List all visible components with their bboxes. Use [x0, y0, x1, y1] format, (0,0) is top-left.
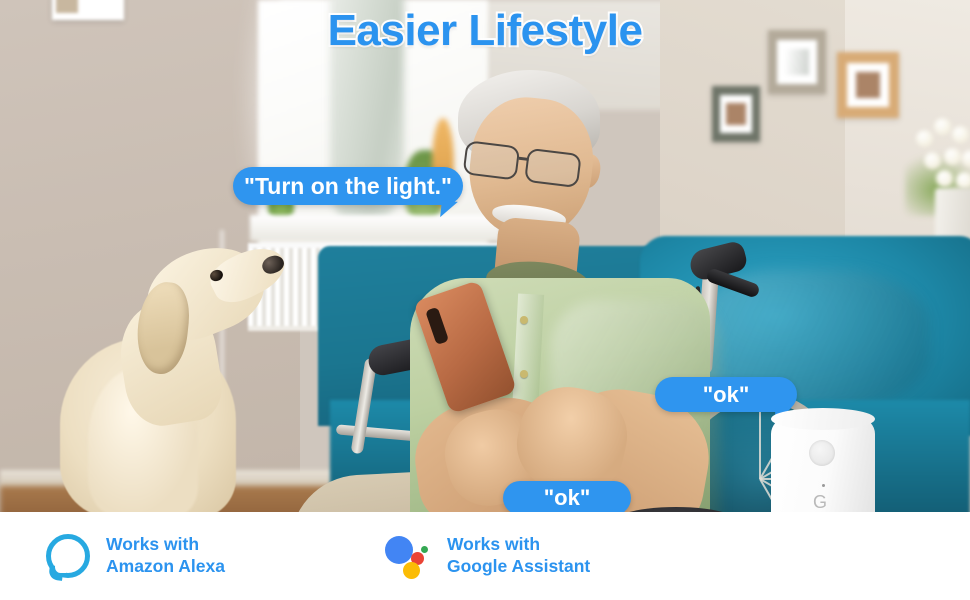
- alexa-icon: [46, 534, 90, 578]
- speech-bubble-command-text: "Turn on the light.": [244, 173, 452, 200]
- speech-bubble-command: "Turn on the light.": [233, 167, 463, 205]
- alexa-label-line2: Amazon Alexa: [106, 556, 225, 578]
- works-with-amazon-alexa: Works with Amazon Alexa: [46, 534, 225, 578]
- promo-banner: Easier Lifestyle "Turn on the light." "o…: [0, 0, 970, 600]
- speech-bubble-ok-google-home-text: "ok": [703, 382, 750, 408]
- banner-title: Easier Lifestyle: [0, 6, 970, 56]
- google-assistant-label-line1: Works with: [447, 534, 590, 556]
- speech-bubble-ok-echo-dot-text: "ok": [544, 485, 591, 511]
- dog: [60, 246, 290, 512]
- google-assistant-label: Works with Google Assistant: [447, 534, 590, 578]
- speech-bubble-ok-google-home: "ok": [655, 377, 797, 412]
- google-g-logo: G: [813, 492, 827, 513]
- bubble-tail-icon: [440, 200, 458, 219]
- works-with-google-assistant: Works with Google Assistant: [385, 534, 590, 578]
- compatibility-footer: Works with Amazon Alexa Works with Googl…: [0, 512, 970, 600]
- mute-microphone-icon: [809, 440, 835, 466]
- status-led: [822, 484, 825, 487]
- google-assistant-label-line2: Google Assistant: [447, 556, 590, 578]
- google-assistant-icon: [385, 534, 431, 578]
- wall-picture-frame-3: [837, 52, 899, 118]
- alexa-label: Works with Amazon Alexa: [106, 534, 225, 578]
- google-home-top-shell: G: [771, 418, 875, 512]
- alexa-label-line1: Works with: [106, 534, 225, 556]
- elderly-man: [400, 70, 730, 512]
